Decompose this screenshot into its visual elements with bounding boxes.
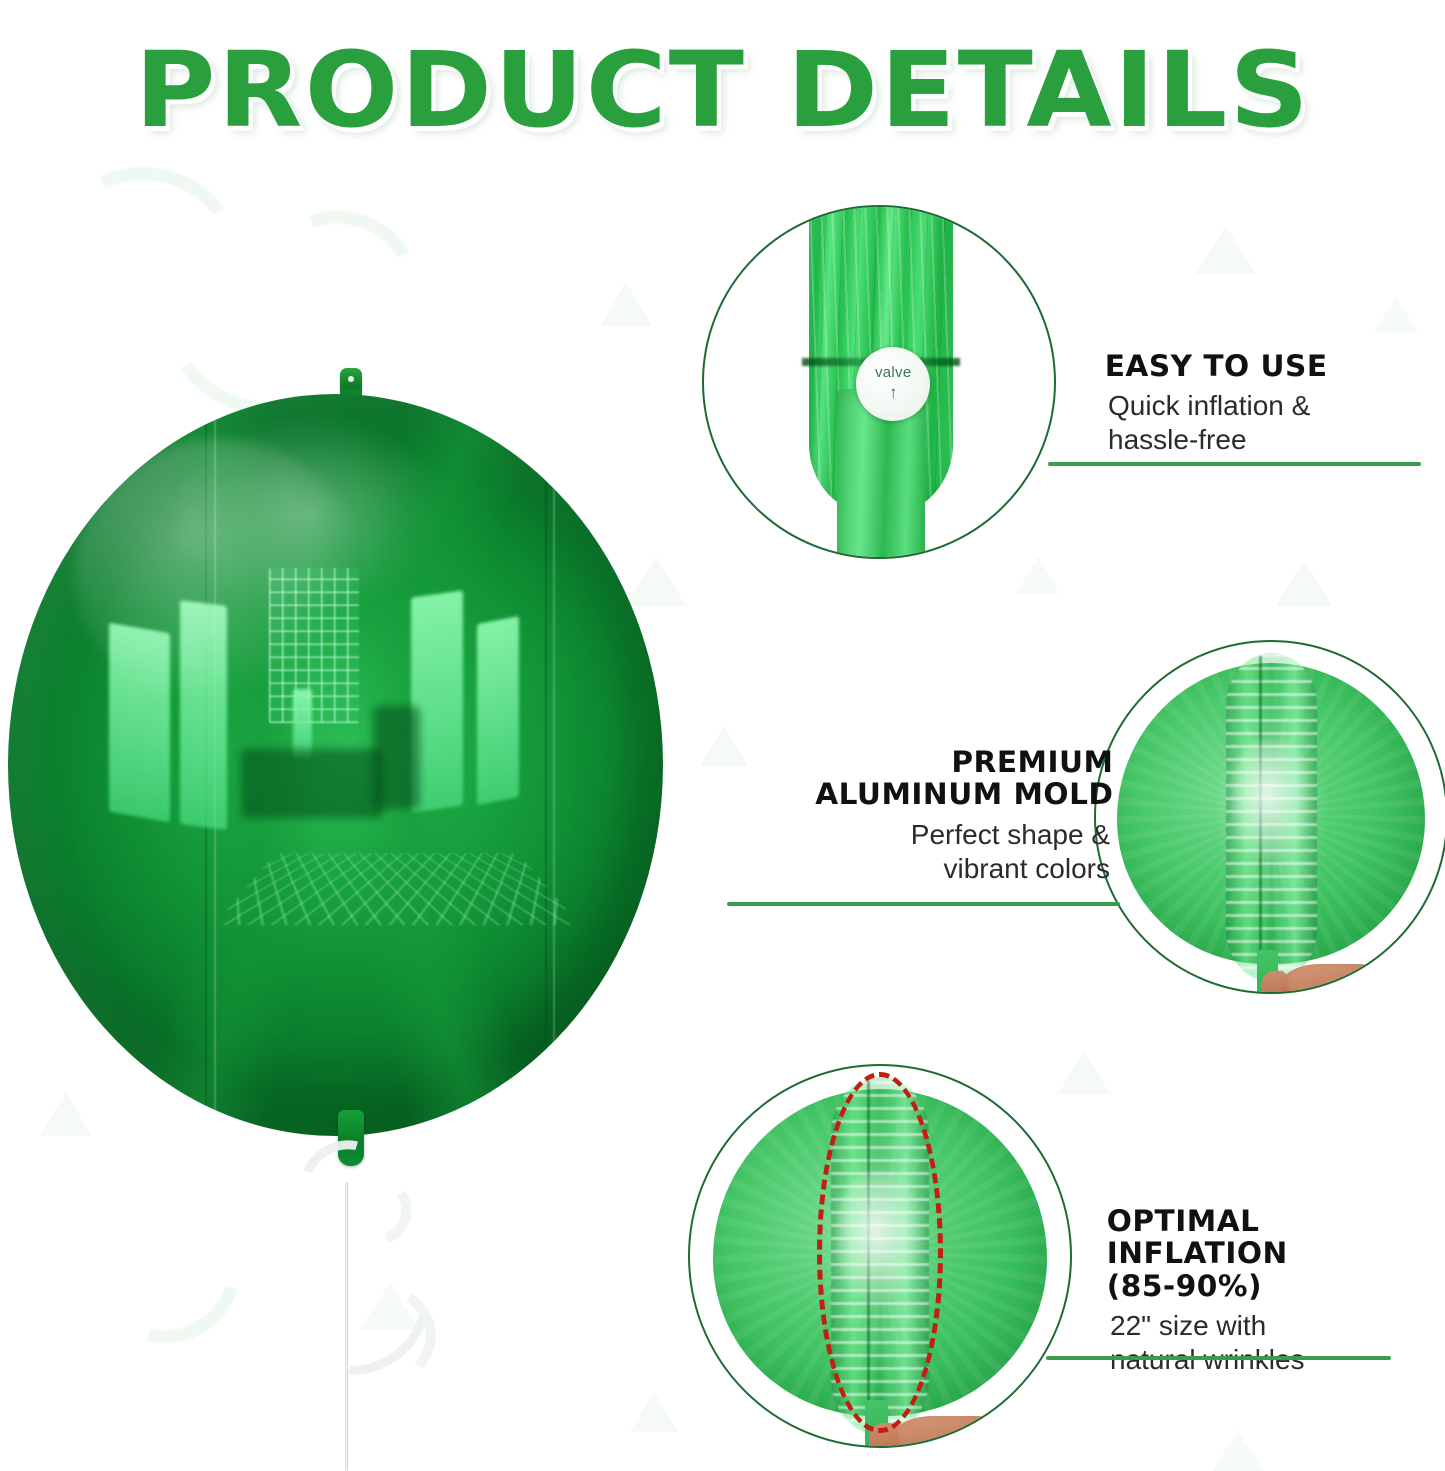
wrinkle-highlight-ellipse — [817, 1072, 942, 1433]
confetti-triangle — [1212, 1430, 1264, 1471]
feature-text-optimal-inflation: OPTIMAL INFLATION (85-90%) 22" size with… — [1110, 1205, 1440, 1377]
feature-body: Perfect shape & vibrant colors — [760, 818, 1110, 885]
confetti-triangle — [1196, 226, 1256, 274]
feature-underline — [1048, 462, 1421, 466]
balloon-shape-photo — [1096, 642, 1445, 992]
balloon-room-reflection — [100, 542, 572, 972]
confetti-triangle — [630, 1392, 678, 1432]
feature-text-easy-to-use: EASY TO USE Quick inflation & hassle-fre… — [1108, 350, 1438, 457]
balloon-sphere — [8, 394, 663, 1136]
confetti-triangle — [600, 282, 652, 326]
feature-text-premium-aluminum-mold: PREMIUM ALUMINUM MOLD Perfect shape & vi… — [760, 746, 1110, 885]
up-arrow-icon: ↑ — [889, 384, 898, 401]
feature-image-easy-to-use: valve ↑ — [702, 205, 1056, 559]
confetti-triangle — [1276, 560, 1332, 606]
feature-title: EASY TO USE — [1105, 350, 1442, 382]
feature-title: PREMIUM ALUMINUM MOLD — [757, 746, 1114, 811]
page-title-wrap: PRODUCT DETAILS — [0, 38, 1445, 142]
balloon-wrinkles-photo — [690, 1066, 1070, 1446]
hero-balloon — [8, 368, 668, 1168]
valve-icon: valve ↑ — [856, 347, 930, 421]
feature-image-premium-aluminum-mold — [1094, 640, 1445, 994]
feature-body: Quick inflation & hassle-free — [1108, 389, 1438, 456]
background-ribbon-decor — [72, 1179, 266, 1370]
confetti-triangle — [1374, 296, 1418, 332]
feature-underline — [1046, 1356, 1391, 1360]
feature-body: 22" size with natural wrinkles — [1110, 1309, 1440, 1376]
page-title: PRODUCT DETAILS — [134, 38, 1310, 142]
feature-underline — [727, 902, 1120, 906]
valve-closeup-photo: valve ↑ — [704, 207, 1054, 557]
valve-label: valve — [875, 365, 912, 380]
hand-icon — [1278, 964, 1383, 994]
infographic-canvas: PRODUCT DETAILS — [0, 0, 1445, 1471]
feature-title: OPTIMAL INFLATION (85-90%) — [1107, 1205, 1444, 1302]
confetti-triangle — [700, 726, 748, 766]
feature-image-optimal-inflation — [688, 1064, 1072, 1448]
confetti-triangle — [1016, 556, 1060, 594]
balloon-spine-gloss — [1233, 740, 1310, 859]
